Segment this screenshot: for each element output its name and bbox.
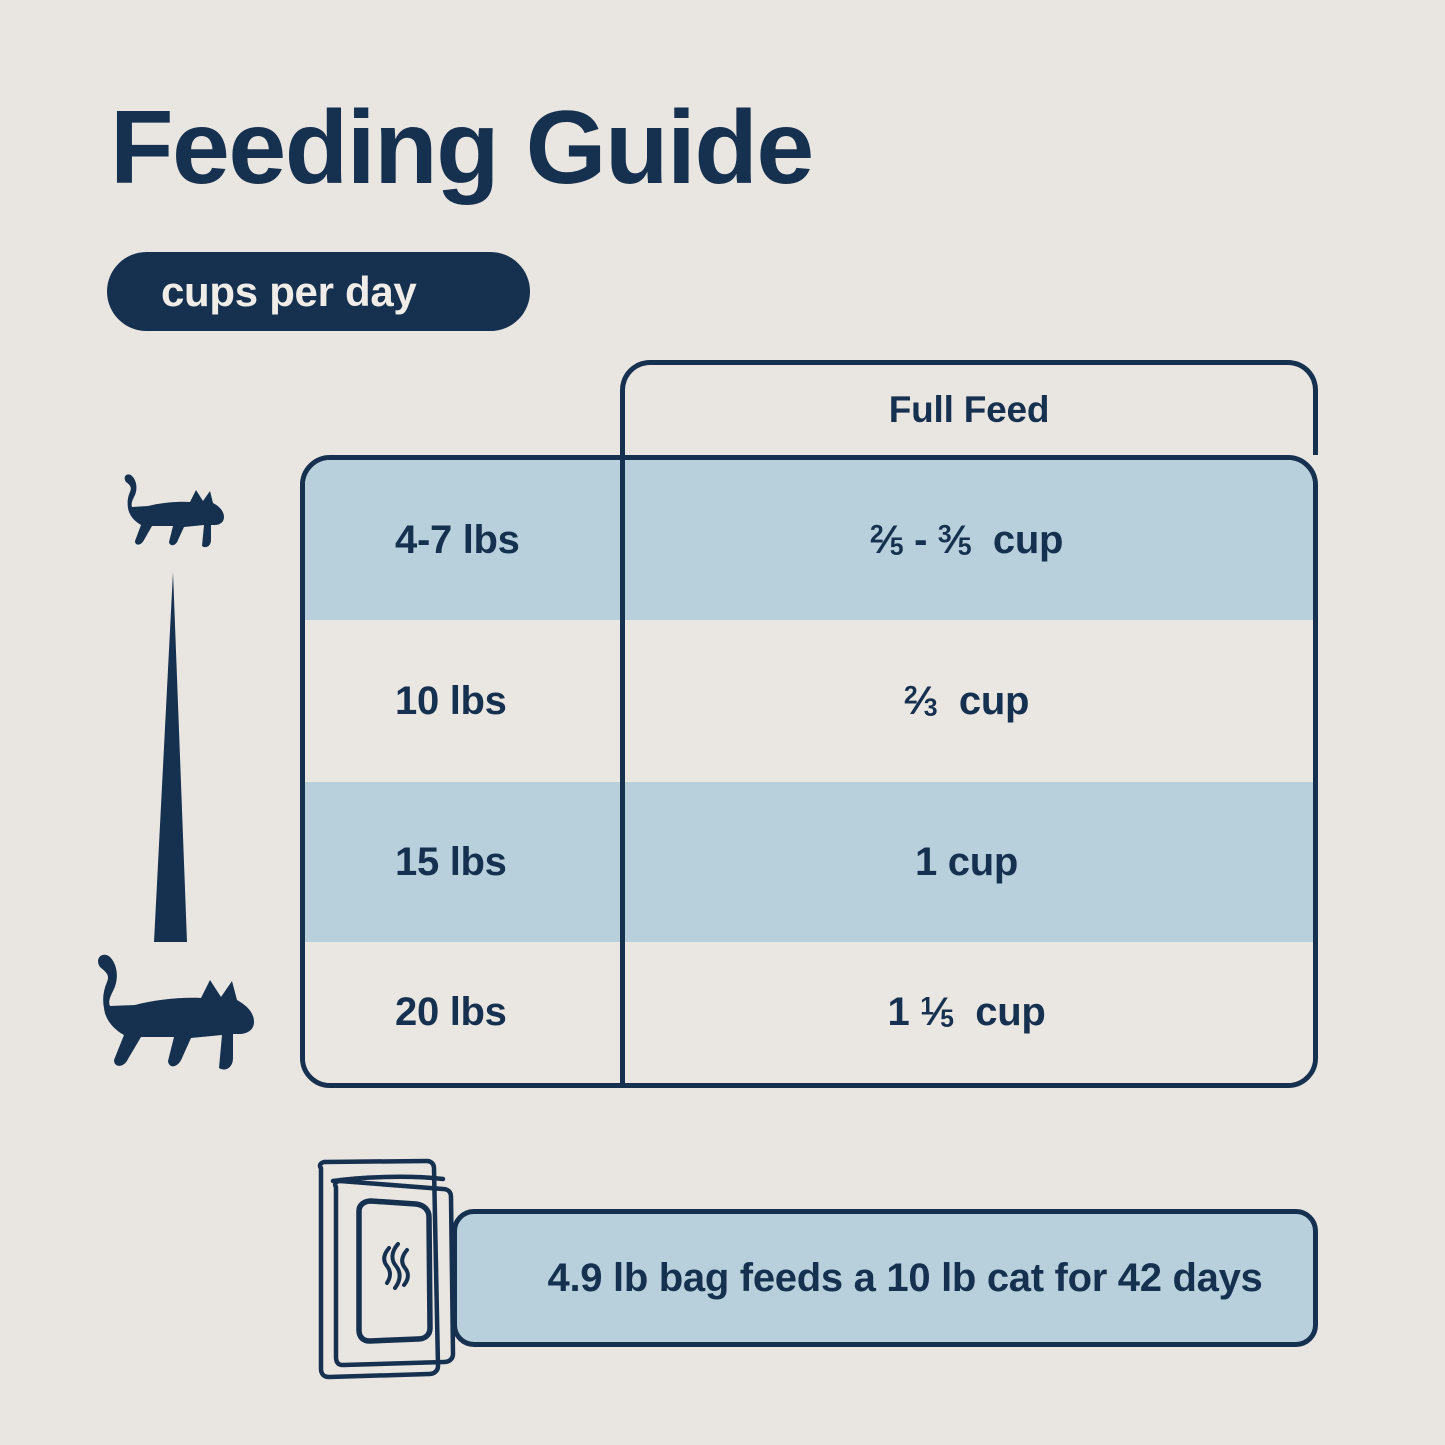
feeding-table: Full Feed 4-7 lbs 2⁄5 - 3⁄5 cup 10 lbs 2… <box>300 360 1318 1088</box>
cell-weight: 4-7 lbs <box>305 460 620 620</box>
table-body: 4-7 lbs 2⁄5 - 3⁄5 cup 10 lbs 2⁄3 cup 15 … <box>300 455 1318 1088</box>
bag-duration-text: 4.9 lb bag feeds a 10 lb cat for 42 days <box>508 1256 1263 1301</box>
cat-icon-small <box>112 470 230 556</box>
cell-weight: 20 lbs <box>305 942 620 1083</box>
feeding-guide-infographic: Feeding Guide cups per day Full Feed 4-7… <box>0 0 1445 1445</box>
page-title: Feeding Guide <box>110 96 813 200</box>
table-row: 10 lbs 2⁄3 cup <box>305 620 1313 782</box>
column-divider <box>620 460 625 1083</box>
table-row: 15 lbs 1 cup <box>305 782 1313 942</box>
table-row: 4-7 lbs 2⁄5 - 3⁄5 cup <box>305 460 1313 620</box>
column-header-label: Full Feed <box>889 389 1050 431</box>
table-header-full-feed: Full Feed <box>620 360 1318 455</box>
cell-amount: 2⁄5 - 3⁄5 cup <box>620 460 1313 620</box>
fraction-value: 2⁄5 - 3⁄5 cup <box>870 518 1063 563</box>
fraction-value: 2⁄3 cup <box>904 679 1029 724</box>
cups-per-day-label: cups per day <box>161 268 417 316</box>
size-triangle-icon <box>140 572 210 942</box>
food-bag-icon <box>303 1148 483 1388</box>
cell-amount: 1 cup <box>620 782 1313 942</box>
table-row: 20 lbs 1 1⁄5 cup <box>305 942 1313 1083</box>
bag-duration-banner: 4.9 lb bag feeds a 10 lb cat for 42 days <box>452 1209 1318 1347</box>
cups-per-day-badge: cups per day <box>107 252 530 331</box>
cat-icon-large <box>78 948 264 1084</box>
cell-amount: 2⁄3 cup <box>620 620 1313 782</box>
cell-amount: 1 1⁄5 cup <box>620 942 1313 1083</box>
cell-weight: 15 lbs <box>305 782 620 942</box>
cell-weight: 10 lbs <box>305 620 620 782</box>
fraction-value: 1 1⁄5 cup <box>888 990 1046 1035</box>
